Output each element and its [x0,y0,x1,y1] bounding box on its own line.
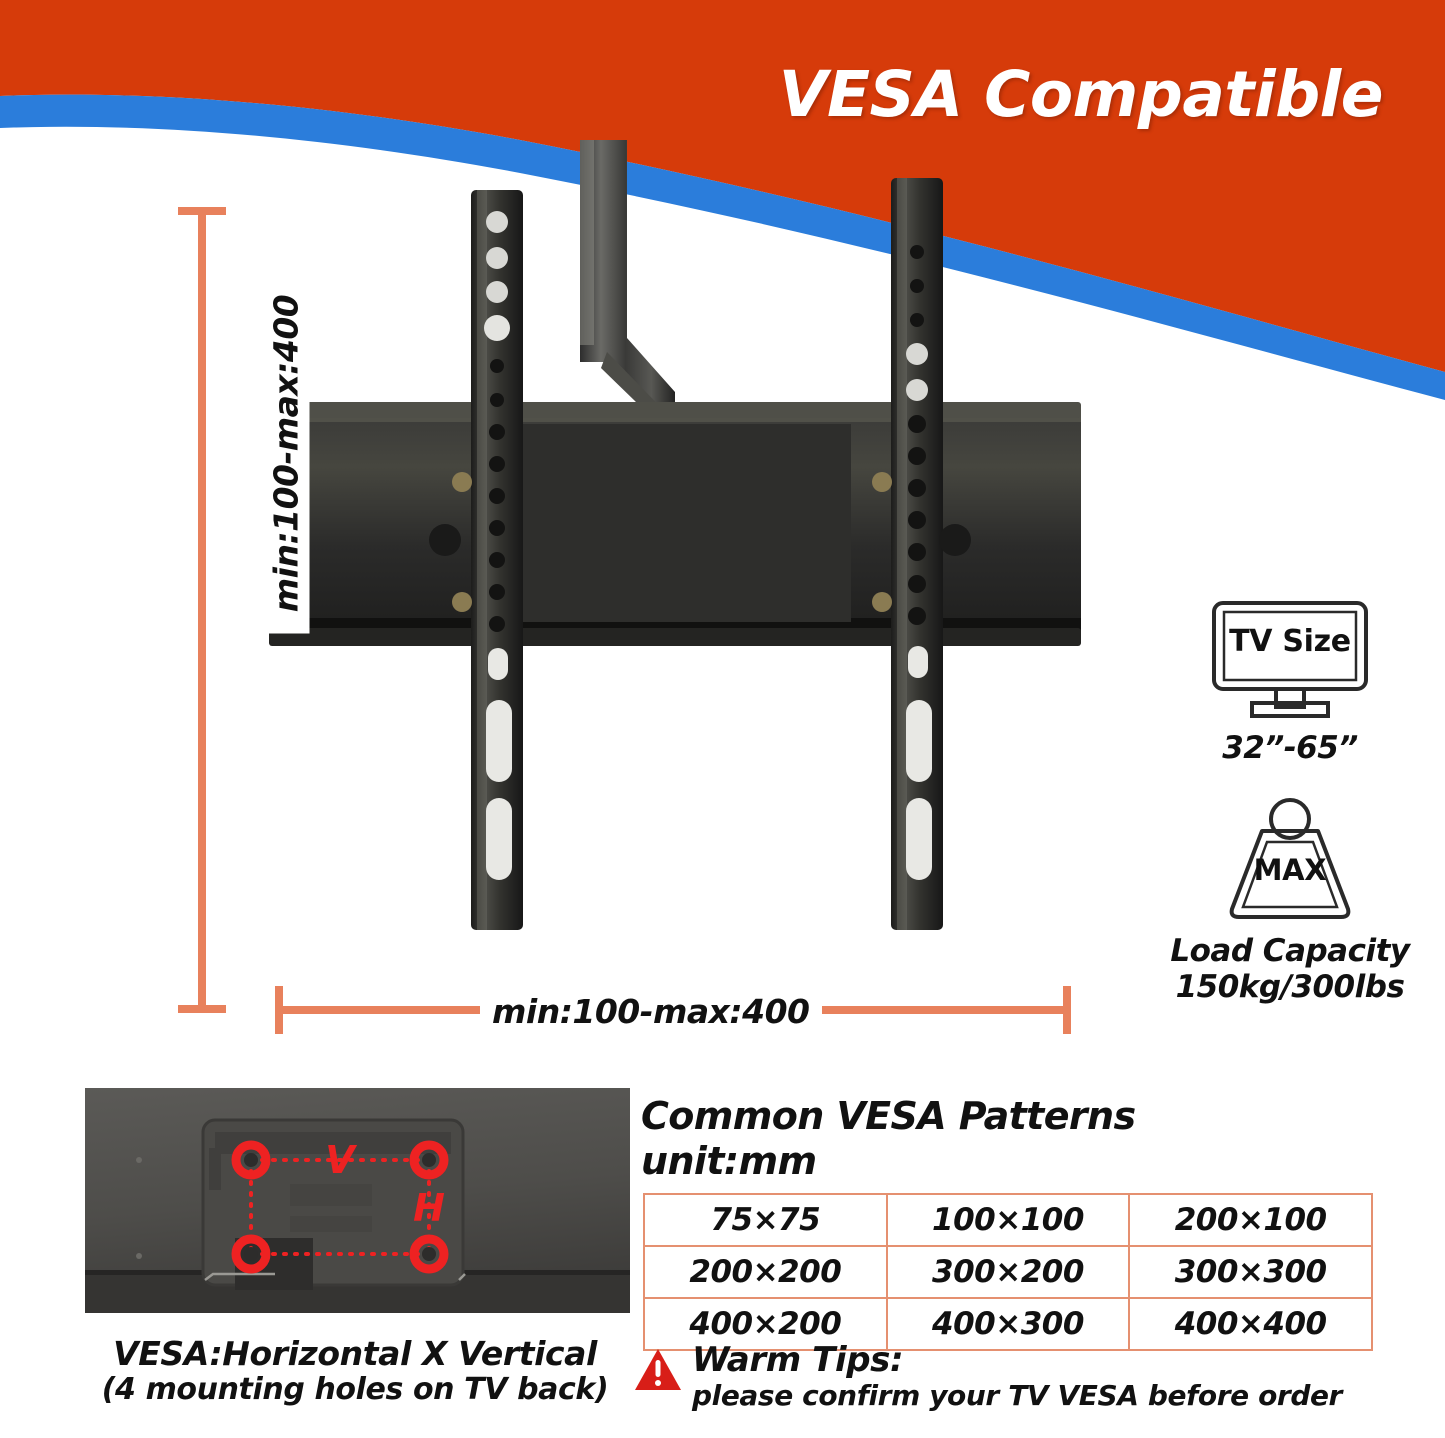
table-row: 75×75 100×100 200×100 [644,1194,1372,1246]
load-capacity-line2: 150kg/300lbs [1145,969,1435,1006]
warm-tips-text: Warm Tips: please confirm your TV VESA b… [692,1341,1342,1413]
table-cell: 75×75 [644,1194,887,1246]
infographic-page: VESA Compatible [0,0,1445,1438]
table-row: 200×200 300×200 300×300 [644,1246,1372,1298]
vertical-dimension-line [198,210,206,1010]
warning-triangle-icon [634,1347,682,1393]
vesa-patterns-table: 75×75 100×100 200×100 200×200 300×200 30… [643,1193,1373,1351]
vertical-dimension-label: min:100-max:400 [263,274,310,634]
vesa-marker-v: V [325,1138,357,1182]
table-cell: 300×200 [887,1246,1130,1298]
product-photo-tv-mount [255,140,1095,980]
warm-tips-body: please confirm your TV VESA before order [692,1379,1342,1413]
tv-back-illustration: V H [85,1088,630,1313]
vertical-dimension-cap-top [178,207,226,215]
table-cell: 100×100 [887,1194,1130,1246]
warm-tips-title: Warm Tips: [692,1341,1342,1379]
tv-icon-label: TV Size [1210,624,1370,659]
tv-back-caption-line1: VESA:Horizontal X Vertical [55,1336,655,1373]
tv-monitor-icon [1210,600,1370,718]
spec-column: TV Size 32”-65” MAX Load Capacity 150kg/… [1145,600,1435,1006]
tv-size-icon-group: TV Size [1210,600,1370,718]
tv-back-caption-line2: (4 mounting holes on TV back) [55,1373,655,1408]
load-capacity-icon-group: MAX [1215,797,1365,921]
warm-tips: Warm Tips: please confirm your TV VESA b… [634,1341,1424,1413]
tv-back-caption: VESA:Horizontal X Vertical (4 mounting h… [55,1336,655,1408]
horizontal-dimension-cap-right [1063,986,1071,1034]
vesa-heading-line1: Common VESA Patterns [641,1094,1136,1139]
tv-mount-illustration [255,140,1095,980]
horizontal-dimension-label: min:100-max:400 [480,992,822,1031]
load-capacity-line1: Load Capacity [1145,933,1435,970]
tv-size-value: 32”-65” [1145,730,1435,767]
table-cell: 200×100 [1129,1194,1372,1246]
vesa-patterns-heading: Common VESA Patterns unit:mm [641,1094,1136,1184]
tv-back-photo: V H [85,1088,630,1313]
vertical-dimension-cap-bottom [178,1005,226,1013]
weight-icon-label: MAX [1215,853,1365,887]
vesa-marker-h: H [413,1186,445,1230]
horizontal-dimension-cap-left [275,986,283,1034]
table-cell: 300×300 [1129,1246,1372,1298]
page-title: VESA Compatible [779,58,1383,131]
table-cell: 200×200 [644,1246,887,1298]
vesa-heading-line2: unit:mm [641,1139,1136,1184]
